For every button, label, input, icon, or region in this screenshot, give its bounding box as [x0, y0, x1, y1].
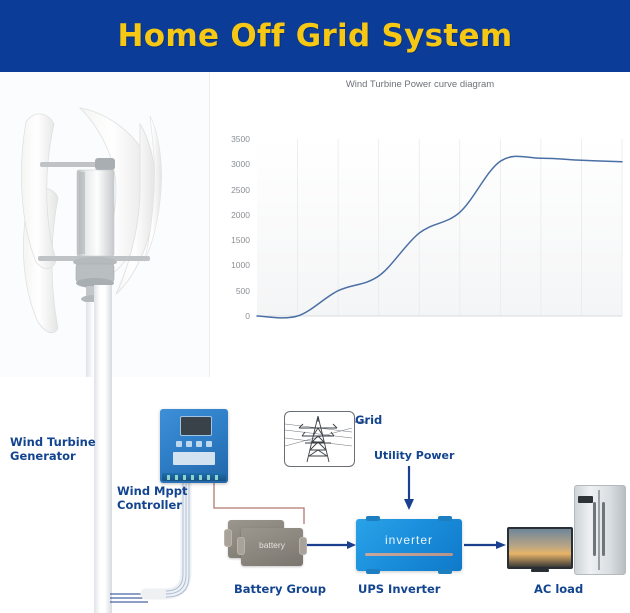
label-wind-turbine-generator: Wind Turbine Generator: [10, 436, 105, 464]
page-title: Home Off Grid System: [118, 18, 513, 54]
controller-button-1[interactable]: [176, 441, 182, 447]
power-tower-icon: [285, 412, 352, 464]
chart-plot-area: [210, 72, 630, 372]
label-grid: Grid: [355, 414, 382, 428]
refrigerator-appliance: [574, 485, 626, 575]
tv-stand: [531, 569, 549, 572]
label-wind-mppt-controller: Wind Mppt Controller: [117, 485, 213, 513]
inverter-stripe: [365, 553, 453, 556]
fridge-door-split: [598, 490, 600, 570]
power-curve-chart: Wind Turbine Power curve diagram 3500300…: [210, 72, 630, 372]
battery-unit-label: battery: [241, 540, 303, 550]
controller-terminal-strip: [162, 473, 226, 481]
label-utility-power: Utility Power: [374, 449, 454, 462]
controller-lcd-screen: [180, 416, 212, 436]
fridge-handle-right: [602, 502, 605, 556]
fridge-handle-left: [593, 502, 596, 556]
controller-button-4[interactable]: [206, 441, 212, 447]
controller-nameplate: [173, 452, 215, 465]
tv-appliance: [507, 527, 573, 569]
mppt-controller-device: [160, 409, 228, 483]
page-header: Home Off Grid System: [0, 0, 630, 72]
label-ac-load: AC load: [534, 583, 583, 597]
controller-button-2[interactable]: [186, 441, 192, 447]
tv-screen: [509, 529, 571, 567]
label-ups-inverter: UPS Inverter: [358, 583, 440, 597]
label-battery-group: Battery Group: [234, 583, 326, 597]
fridge-control-panel: [578, 496, 593, 503]
controller-button-3[interactable]: [196, 441, 202, 447]
inverter-face-label: inverter: [356, 533, 462, 547]
ups-inverter-device: inverter: [356, 519, 462, 571]
grid-tower-frame: [284, 411, 355, 467]
